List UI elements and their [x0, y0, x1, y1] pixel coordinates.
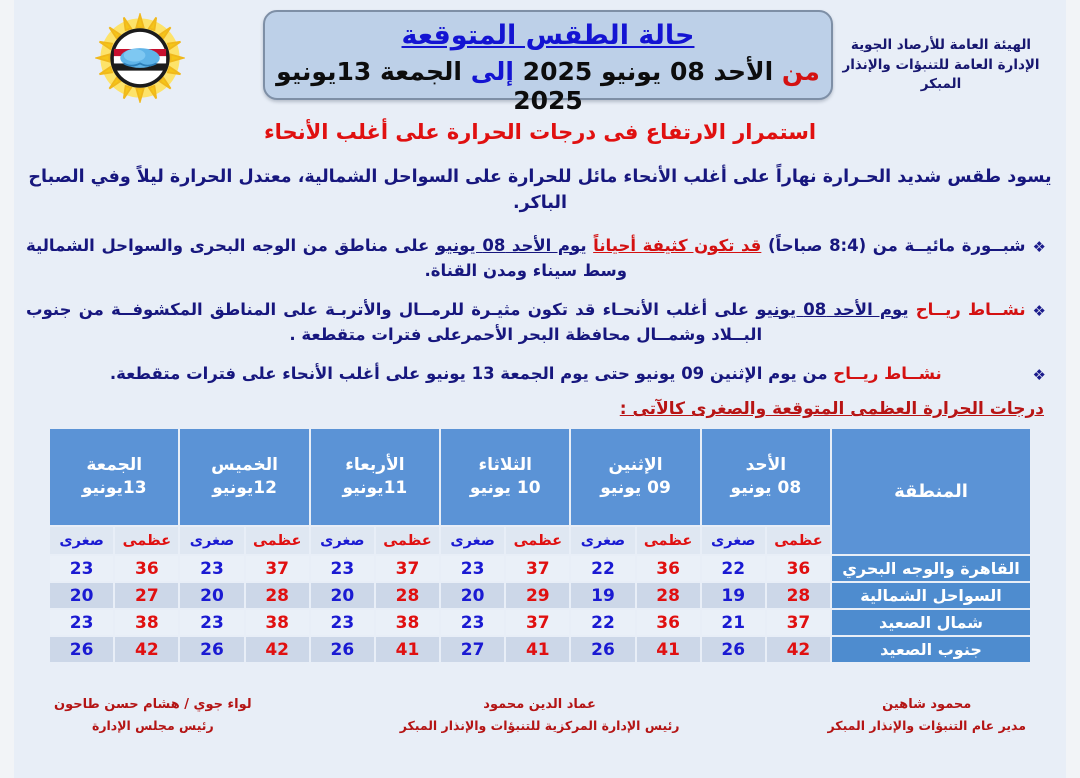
day-date-tuesday: 10 يونيو	[441, 477, 569, 500]
temp-min: 22	[702, 556, 765, 581]
signature-block-chairman: لواء جوي / هشام حسن طاحون رئيس مجلس الإد…	[54, 695, 252, 736]
forecast-intro: يسود طقس شديد الحـرارة نهاراً على أغلب ا…	[26, 164, 1054, 217]
bullet2-part2: يوم الأحد 08 يونيو	[756, 300, 908, 319]
subheader-max-tuesday: عظمى	[506, 527, 569, 554]
bullet2-part3: على أغلب الأنحـاء قد تكون مثيـرة للرمــا…	[26, 300, 762, 345]
signature-title: مدير عام التنبؤات والإنذار المبكر	[828, 716, 1026, 736]
subheader-min-sunday: صغرى	[702, 527, 765, 554]
table-row: القاهرة والوجه البحري 36 22 36 22 37 23 …	[50, 556, 1030, 581]
region-name: القاهرة والوجه البحري	[832, 556, 1030, 581]
bullet1-part2: (8:4 صباحاً)	[768, 236, 866, 255]
day-date-wednesday: 11يونيو	[311, 477, 439, 500]
temp-max: 28	[767, 583, 830, 608]
organization-block: الهيئة العامة للأرصاد الجوية الإدارة الع…	[822, 36, 1060, 95]
header-region-label: المنطقة	[894, 481, 968, 502]
temp-min: 19	[702, 583, 765, 608]
temp-min: 20	[180, 583, 243, 608]
header-day-tuesday: الثلاثاء 10 يونيو	[441, 429, 569, 525]
organization-name: الهيئة العامة للأرصاد الجوية	[822, 36, 1060, 56]
signature-title: رئيس مجلس الإدارة	[54, 716, 252, 736]
date-range-prefix: من	[782, 57, 820, 86]
temp-max: 42	[115, 637, 178, 662]
temp-max: 36	[115, 556, 178, 581]
day-date-sunday: 08 يونيو	[702, 477, 830, 500]
forecast-headline: استمرار الارتفاع فى درجات الحرارة على أغ…	[0, 120, 1080, 144]
temp-max: 36	[767, 556, 830, 581]
svg-text:EMA: EMA	[128, 37, 153, 48]
temp-min: 23	[180, 610, 243, 635]
day-name-wednesday: الأربعاء	[311, 454, 439, 477]
bullet-marker-icon: ❖	[1033, 361, 1046, 387]
subheader-min-thursday: صغرى	[180, 527, 243, 554]
day-name-sunday: الأحد	[702, 454, 830, 477]
temp-min: 27	[441, 637, 504, 662]
page-footer: محمود شاهين مدير عام التنبؤات والإنذار ا…	[14, 695, 1066, 736]
bullet-marker-icon: ❖	[1033, 297, 1046, 323]
temp-min: 23	[311, 610, 374, 635]
bullet-item-wind-sunday: ❖ نشــاط ريــاح يوم الأحد 08 يونيو على أ…	[26, 297, 1046, 348]
bullet-item-wind-week: ❖ نشــاط ريــاح من يوم الإثنين 09 يونيو …	[26, 361, 1046, 387]
day-date-monday: 09 يونيو	[571, 477, 699, 500]
day-date-thursday: 12يونيو	[180, 477, 308, 500]
table-header-days-row: المنطقة الأحد 08 يونيو الإثنين 09 يونيو …	[50, 429, 1030, 525]
date-range-to-word: إلى	[471, 57, 514, 86]
temp-max: 37	[506, 556, 569, 581]
temp-min: 20	[50, 583, 113, 608]
subheader-min-wednesday: صغرى	[311, 527, 374, 554]
page-title: حالة الطقس المتوقعة	[265, 20, 831, 51]
signature-name: لواء جوي / هشام حسن طاحون	[54, 695, 252, 716]
ema-logo: EMA	[92, 12, 188, 104]
day-name-tuesday: الثلاثاء	[441, 454, 569, 477]
signature-block-director: محمود شاهين مدير عام التنبؤات والإنذار ا…	[828, 695, 1026, 736]
temp-max: 37	[376, 556, 439, 581]
temp-max: 28	[637, 583, 700, 608]
subheader-max-friday: عظمى	[115, 527, 178, 554]
temp-max: 36	[637, 610, 700, 635]
subheader-max-wednesday: عظمى	[376, 527, 439, 554]
temp-min: 23	[180, 556, 243, 581]
bullet-text-fog: شبــورة مائيــة من (8:4 صباحاً) قد تكون …	[26, 233, 1026, 284]
temp-max: 29	[506, 583, 569, 608]
header-day-wednesday: الأربعاء 11يونيو	[311, 429, 439, 525]
temperature-table-body: القاهرة والوجه البحري 36 22 36 22 37 23 …	[50, 556, 1030, 662]
bullet2-part1: نشــاط ريــاح	[916, 300, 1026, 319]
temp-min: 23	[441, 556, 504, 581]
temp-min: 23	[311, 556, 374, 581]
signature-title: رئيس الإدارة المركزية للتنبؤات والإنذار …	[400, 716, 680, 736]
temp-min: 26	[180, 637, 243, 662]
header-day-sunday: الأحد 08 يونيو	[702, 429, 830, 525]
organization-department: الإدارة العامة للتنبؤات والإنذار المبكر	[822, 56, 1060, 95]
region-name: السواحل الشمالية	[832, 583, 1030, 608]
signature-block-central-head: عماد الدين محمود رئيس الإدارة المركزية ل…	[400, 695, 680, 736]
subheader-max-sunday: عظمى	[767, 527, 830, 554]
header-day-monday: الإثنين 09 يونيو	[571, 429, 699, 525]
subheader-max-thursday: عظمى	[246, 527, 309, 554]
temp-min: 26	[311, 637, 374, 662]
temp-min: 21	[702, 610, 765, 635]
day-name-friday: الجمعة	[50, 454, 178, 477]
bullet1-part1: شبــورة مائيــة من	[873, 236, 1026, 255]
header-day-friday: الجمعة 13يونيو	[50, 429, 178, 525]
subheader-min-friday: صغرى	[50, 527, 113, 554]
bullet1-part4: يوم الأحد 08 يونيو	[436, 236, 587, 255]
subheader-min-tuesday: صغرى	[441, 527, 504, 554]
day-date-friday: 13يونيو	[50, 477, 178, 500]
region-name: جنوب الصعيد	[832, 637, 1030, 662]
bullet-marker-icon: ❖	[1033, 233, 1046, 259]
temp-max: 36	[637, 556, 700, 581]
temp-max: 41	[376, 637, 439, 662]
bullet1-part3: قد تكون كثيفة أحياناً	[593, 236, 761, 255]
bullet-text-wind-week: نشــاط ريــاح من يوم الإثنين 09 يونيو حت…	[26, 361, 1026, 387]
temp-max: 28	[246, 583, 309, 608]
forecast-bullets: ❖ شبــورة مائيــة من (8:4 صباحاً) قد تكو…	[26, 233, 1046, 387]
region-name: شمال الصعيد	[832, 610, 1030, 635]
temp-max: 42	[246, 637, 309, 662]
temp-min: 26	[571, 637, 634, 662]
temp-min: 20	[311, 583, 374, 608]
title-box: حالة الطقس المتوقعة من الأحد 08 يونيو 20…	[263, 10, 833, 100]
temperature-table-wrapper: المنطقة الأحد 08 يونيو الإثنين 09 يونيو …	[48, 427, 1032, 664]
temp-max: 27	[115, 583, 178, 608]
signature-name: عماد الدين محمود	[400, 695, 680, 716]
signature-name: محمود شاهين	[828, 695, 1026, 716]
temp-min: 23	[50, 610, 113, 635]
temp-max: 37	[246, 556, 309, 581]
temp-max: 38	[246, 610, 309, 635]
bullet-item-fog: ❖ شبــورة مائيــة من (8:4 صباحاً) قد تكو…	[26, 233, 1046, 284]
temp-max: 41	[506, 637, 569, 662]
table-row: شمال الصعيد 37 21 36 22 37 23 38 23 38 2…	[50, 610, 1030, 635]
bullet3-part2: من يوم الإثنين 09 يونيو حتى يوم الجمعة 1…	[110, 364, 828, 383]
temp-max: 37	[767, 610, 830, 635]
temp-max: 28	[376, 583, 439, 608]
ema-sun-cloud-logo-icon: EMA	[95, 13, 185, 103]
date-range: من الأحد 08 يونيو 2025 إلى الجمعة 13يوني…	[265, 57, 831, 115]
weather-forecast-page: EMA حالة الطقس المتوقعة من الأحد 08 يوني…	[0, 0, 1080, 778]
day-name-monday: الإثنين	[571, 454, 699, 477]
page-header: EMA حالة الطقس المتوقعة من الأحد 08 يوني…	[0, 0, 1080, 112]
temp-min: 26	[50, 637, 113, 662]
temp-max: 38	[115, 610, 178, 635]
table-caption: درجات الحرارة العظمى المتوقعة والصغرى كا…	[0, 399, 1044, 419]
header-region: المنطقة	[832, 429, 1030, 554]
temperature-table: المنطقة الأحد 08 يونيو الإثنين 09 يونيو …	[48, 427, 1032, 664]
header-day-thursday: الخميس 12يونيو	[180, 429, 308, 525]
temp-min: 19	[571, 583, 634, 608]
temp-min: 22	[571, 556, 634, 581]
bullet3-part1: نشــاط ريــاح	[833, 364, 941, 383]
table-row: السواحل الشمالية 28 19 28 19 29 20 28 20…	[50, 583, 1030, 608]
temp-max: 42	[767, 637, 830, 662]
temp-max: 41	[637, 637, 700, 662]
temp-max: 37	[506, 610, 569, 635]
temperature-table-head: المنطقة الأحد 08 يونيو الإثنين 09 يونيو …	[50, 429, 1030, 554]
temp-max: 38	[376, 610, 439, 635]
bullet-text-wind-sunday: نشــاط ريــاح يوم الأحد 08 يونيو على أغل…	[26, 297, 1026, 348]
temp-min: 22	[571, 610, 634, 635]
subheader-max-monday: عظمى	[637, 527, 700, 554]
temp-min: 26	[702, 637, 765, 662]
temp-min: 20	[441, 583, 504, 608]
temp-min: 23	[50, 556, 113, 581]
subheader-min-monday: صغرى	[571, 527, 634, 554]
temp-min: 23	[441, 610, 504, 635]
day-name-thursday: الخميس	[180, 454, 308, 477]
date-range-from: الأحد 08 يونيو 2025	[523, 57, 773, 86]
table-row: جنوب الصعيد 42 26 41 26 41 27 41 26 42 2…	[50, 637, 1030, 662]
